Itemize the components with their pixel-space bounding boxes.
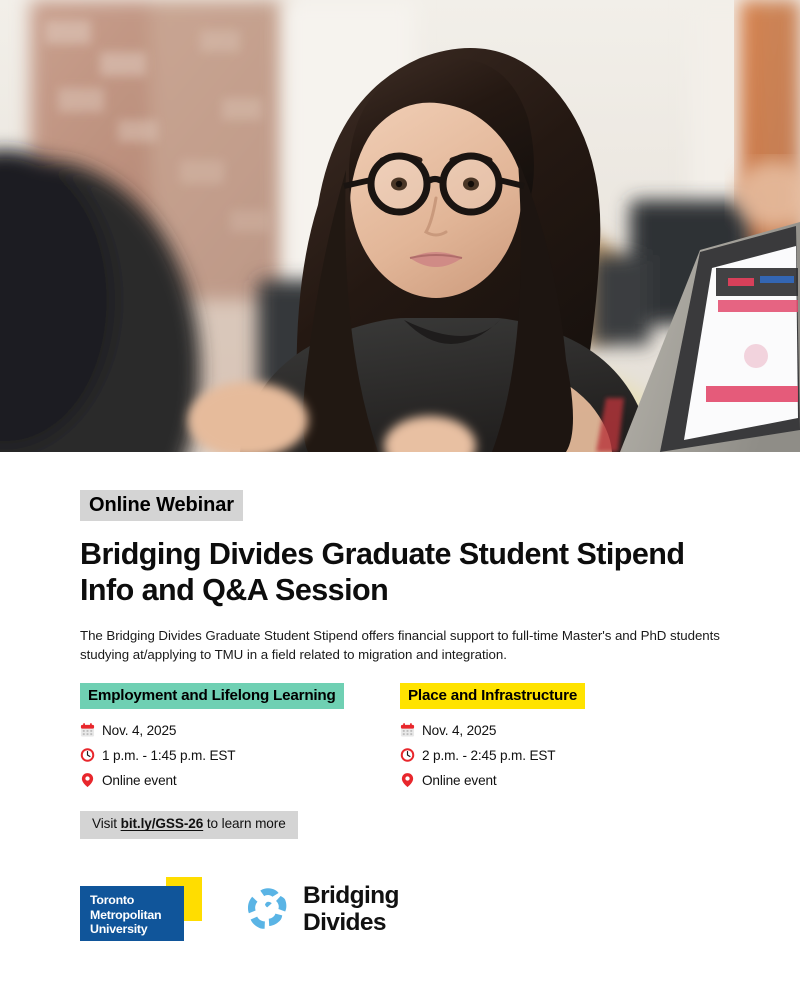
bridging-divides-logo: Bridging Divides	[244, 882, 399, 937]
bridging-divides-wordmark: Bridging Divides	[303, 882, 399, 937]
location-pin-icon	[80, 772, 95, 788]
session-location-text: Online event	[102, 774, 177, 788]
cta-prefix: Visit	[92, 816, 121, 831]
tmu-wordmark-line-1: Toronto	[90, 893, 134, 907]
tmu-wordmark-line-2: Metropolitan	[90, 908, 161, 922]
calendar-icon	[80, 722, 95, 738]
event-promo-poster: Online Webinar Bridging Divides Graduate…	[0, 0, 800, 1000]
hero-photo	[0, 0, 800, 452]
session-employment-and-lifelong-learning: Employment and Lifelong Learning	[80, 683, 400, 793]
intro-paragraph: The Bridging Divides Graduate Student St…	[80, 626, 720, 664]
sessions-container: Employment and Lifelong Learning	[80, 683, 720, 793]
bridging-divides-mark-icon	[244, 885, 292, 933]
bd-wordmark-line-1: Bridging	[303, 882, 399, 909]
session-location-row: Online event	[400, 768, 720, 792]
session-title-badge: Place and Infrastructure	[400, 683, 585, 709]
session-details: Nov. 4, 2025 2 p.m. - 2:45 p.m. EST	[400, 718, 720, 792]
tmu-logo-wordmark: Toronto Metropolitan University	[90, 893, 161, 936]
page-title: Bridging Divides Graduate Student Stipen…	[80, 537, 720, 608]
cta-link[interactable]: bit.ly/GSS-26	[121, 816, 204, 831]
session-time-row: 1 p.m. - 1:45 p.m. EST	[80, 743, 400, 767]
learn-more-callout[interactable]: Visit bit.ly/GSS-26 to learn more	[80, 811, 298, 839]
logo-row: Toronto Metropolitan University	[80, 877, 720, 941]
session-place-and-infrastructure: Place and Infrastructure	[400, 683, 720, 793]
session-time-row: 2 p.m. - 2:45 p.m. EST	[400, 743, 720, 767]
bd-wordmark-line-2: Divides	[303, 909, 386, 936]
page-title-line-2: Info and Q&A Session	[80, 573, 388, 607]
session-date-text: Nov. 4, 2025	[102, 724, 176, 738]
session-date-row: Nov. 4, 2025	[400, 718, 720, 742]
session-details: Nov. 4, 2025 1 p.m. - 1:45 p.m. EST	[80, 718, 400, 792]
calendar-icon	[400, 722, 415, 738]
session-time-text: 1 p.m. - 1:45 p.m. EST	[102, 749, 235, 763]
session-title-badge: Employment and Lifelong Learning	[80, 683, 344, 709]
location-pin-icon	[400, 772, 415, 788]
poster-content: Online Webinar Bridging Divides Graduate…	[0, 452, 800, 941]
tmu-logo: Toronto Metropolitan University	[80, 877, 202, 941]
page-title-line-1: Bridging Divides Graduate Student Stipen…	[80, 537, 684, 571]
clock-icon	[80, 747, 95, 763]
session-date-row: Nov. 4, 2025	[80, 718, 400, 742]
tmu-wordmark-line-3: University	[90, 922, 147, 936]
cta-suffix: to learn more	[203, 816, 285, 831]
session-date-text: Nov. 4, 2025	[422, 724, 496, 738]
event-type-badge: Online Webinar	[80, 490, 243, 521]
session-location-text: Online event	[422, 774, 497, 788]
session-time-text: 2 p.m. - 2:45 p.m. EST	[422, 749, 555, 763]
session-location-row: Online event	[80, 768, 400, 792]
clock-icon	[400, 747, 415, 763]
